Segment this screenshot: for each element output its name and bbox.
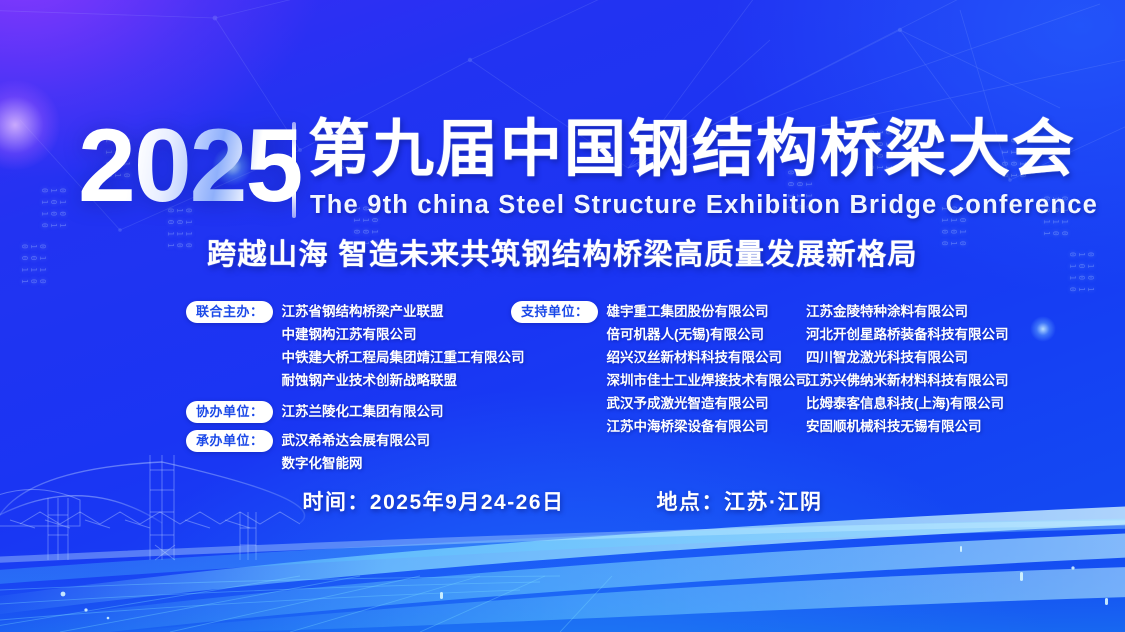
sponsor-label-assisting: 协办单位： bbox=[186, 401, 273, 423]
year-2025: 2025 bbox=[78, 114, 301, 218]
list-item: 武汉希希达会展有限公司 bbox=[282, 429, 431, 452]
list-item: 深圳市佳士工业焊接技术有限公司 bbox=[607, 369, 810, 392]
list-item: 雄宇重工集团股份有限公司 bbox=[607, 300, 810, 323]
sponsor-names-undertaker: 武汉希希达会展有限公司 数字化智能网 bbox=[282, 429, 431, 475]
list-item: 江苏省钢结构桥梁产业联盟 bbox=[282, 300, 525, 323]
sponsor-column-right: 江苏金陵特种涂料有限公司 河北开创星路桥装备科技有限公司 四川智龙激光科技有限公… bbox=[806, 300, 1086, 438]
list-item: 江苏兴佛纳米新材料科技有限公司 bbox=[806, 369, 1086, 392]
list-item: 比姆泰客信息科技(上海)有限公司 bbox=[806, 392, 1086, 415]
list-item: 四川智龙激光科技有限公司 bbox=[806, 346, 1086, 369]
sponsor-label-coorganizers: 联合主办： bbox=[186, 301, 273, 323]
list-item: 安固顺机械科技无锡有限公司 bbox=[806, 415, 1086, 438]
sponsor-column-left: 联合主办： 江苏省钢结构桥梁产业联盟 中建钢构江苏有限公司 中铁建大桥工程局集团… bbox=[186, 300, 506, 478]
list-item: 中铁建大桥工程局集团靖江重工有限公司 bbox=[282, 346, 525, 369]
list-item: 江苏兰陵化工集团有限公司 bbox=[282, 400, 444, 423]
list-item: 河北开创星路桥装备科技有限公司 bbox=[806, 323, 1086, 346]
sponsor-column-middle: 支持单位： 雄宇重工集团股份有限公司 倍可机器人(无锡)有限公司 绍兴汉丝新材料… bbox=[511, 300, 801, 441]
sponsor-group-undertaker: 承办单位： 武汉希希达会展有限公司 数字化智能网 bbox=[186, 429, 506, 475]
conference-slogan: 跨越山海 智造未来共筑钢结构桥梁高质量发展新格局 bbox=[0, 238, 1125, 272]
headline-block: 2025 第九届中国钢结构桥梁大会 The 9th china Steel St… bbox=[0, 112, 1125, 237]
sponsor-label-undertaker: 承办单位： bbox=[186, 430, 273, 452]
list-item: 数字化智能网 bbox=[282, 452, 431, 475]
list-item: 中建钢构江苏有限公司 bbox=[282, 323, 525, 346]
sponsor-names-coorganizers: 江苏省钢结构桥梁产业联盟 中建钢构江苏有限公司 中铁建大桥工程局集团靖江重工有限… bbox=[282, 300, 525, 392]
event-location: 地点：江苏·江阴 bbox=[657, 486, 823, 516]
sponsor-names-assisting: 江苏兰陵化工集团有限公司 bbox=[282, 400, 444, 423]
conference-banner: 0 1 0 1 1 0 0 1 0 1 1 0 1 0 1 0 0 1 0 1 … bbox=[0, 0, 1125, 632]
sponsor-label-supporters: 支持单位： bbox=[511, 301, 598, 323]
conference-title-en: The 9th china Steel Structure Exhibition… bbox=[310, 190, 1098, 220]
event-meta: 时间：2025年9月24-26日 地点：江苏·江阴 bbox=[0, 486, 1125, 516]
list-item: 江苏中海桥梁设备有限公司 bbox=[607, 415, 810, 438]
list-item: 绍兴汉丝新材料科技有限公司 bbox=[607, 346, 810, 369]
sponsor-names-supporters: 雄宇重工集团股份有限公司 倍可机器人(无锡)有限公司 绍兴汉丝新材料科技有限公司… bbox=[607, 300, 810, 438]
sponsor-group-supporters: 支持单位： 雄宇重工集团股份有限公司 倍可机器人(无锡)有限公司 绍兴汉丝新材料… bbox=[511, 300, 801, 438]
conference-title-cn: 第九届中国钢结构桥梁大会 bbox=[308, 117, 1076, 183]
list-item: 武汉予成激光智造有限公司 bbox=[607, 392, 810, 415]
title-divider bbox=[292, 122, 296, 218]
event-date: 时间：2025年9月24-26日 bbox=[302, 486, 564, 516]
sponsor-group-coorganizers: 联合主办： 江苏省钢结构桥梁产业联盟 中建钢构江苏有限公司 中铁建大桥工程局集团… bbox=[186, 300, 506, 392]
list-item: 耐蚀钢产业技术创新战略联盟 bbox=[282, 369, 525, 392]
list-item: 倍可机器人(无锡)有限公司 bbox=[607, 323, 810, 346]
sponsor-group-assisting: 协办单位： 江苏兰陵化工集团有限公司 bbox=[186, 400, 506, 423]
list-item: 江苏金陵特种涂料有限公司 bbox=[806, 300, 1086, 323]
